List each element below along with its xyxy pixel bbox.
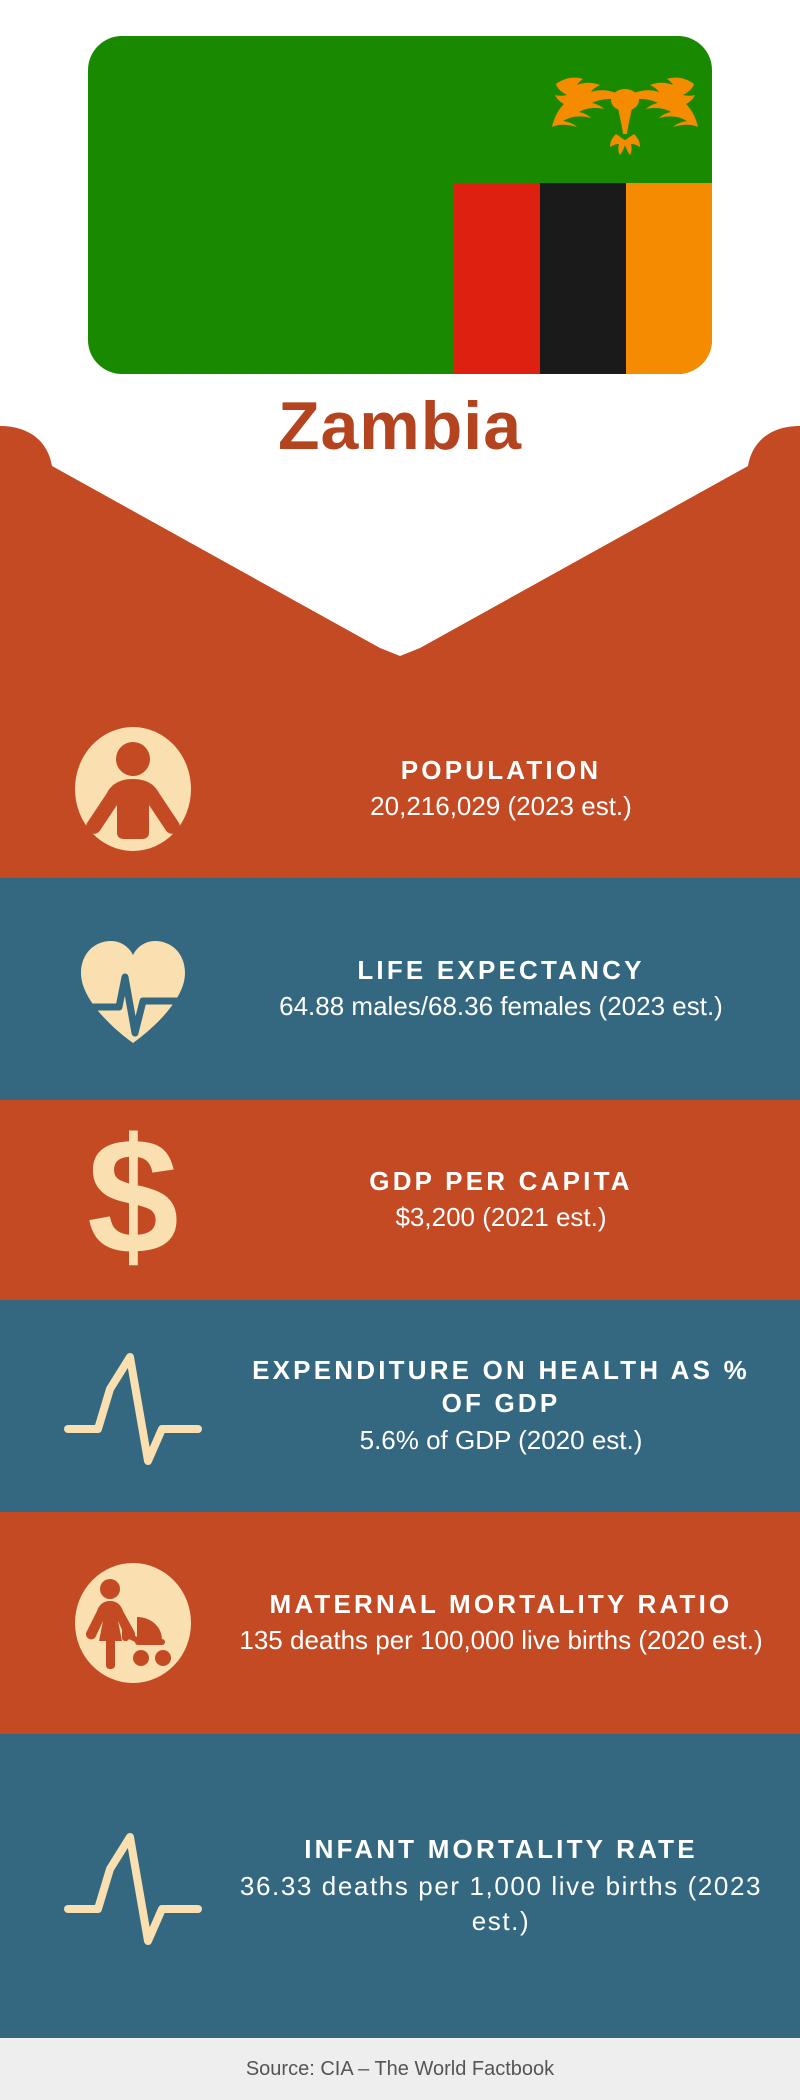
flag-black-stripe	[540, 183, 626, 374]
pulse-line-icon	[58, 1341, 208, 1471]
stat-value-health-expenditure: 5.6% of GDP (2020 est.)	[238, 1423, 764, 1458]
stat-icon-gdp-per-capita: $	[28, 1125, 238, 1275]
svg-text:$: $	[87, 1125, 179, 1275]
mother-stroller-icon	[65, 1555, 201, 1691]
stat-text-population: POPULATION 20,216,029 (2023 est.)	[238, 754, 778, 825]
header-section: Zambia	[0, 0, 800, 730]
person-icon	[65, 721, 201, 857]
country-flag	[88, 36, 712, 374]
flag-red-stripe	[454, 183, 540, 374]
stat-row-infant-mortality: INFANT MORTALITY RATE 36.33 deaths per 1…	[0, 1734, 800, 2038]
stat-icon-health-expenditure	[28, 1341, 238, 1471]
stat-row-life-expectancy: LIFE EXPECTANCY 64.88 males/68.36 female…	[0, 878, 800, 1100]
stat-text-health-expenditure: EXPENDITURE ON HEALTH AS % OF GDP 5.6% o…	[238, 1354, 778, 1459]
source-attribution: Source: CIA – The World Factbook	[246, 2058, 554, 2081]
pulse-line-icon	[58, 1821, 208, 1951]
page-title: Zambia	[0, 392, 800, 460]
stat-row-health-expenditure: EXPENDITURE ON HEALTH AS % OF GDP 5.6% o…	[0, 1300, 800, 1512]
stat-label-life-expectancy: LIFE EXPECTANCY	[238, 954, 764, 988]
stat-value-maternal-mortality: 135 deaths per 100,000 live births (2020…	[238, 1623, 764, 1658]
stat-label-health-expenditure: EXPENDITURE ON HEALTH AS % OF GDP	[238, 1354, 764, 1422]
stat-icon-maternal-mortality	[28, 1555, 238, 1691]
stat-value-infant-mortality: 36.33 deaths per 1,000 live births (2023…	[238, 1869, 764, 1939]
stat-text-life-expectancy: LIFE EXPECTANCY 64.88 males/68.36 female…	[238, 954, 778, 1025]
stat-row-gdp-per-capita: $ GDP PER CAPITA $3,200 (2021 est.)	[0, 1100, 800, 1300]
stat-icon-population	[28, 721, 238, 857]
infographic-root: Zambia POPULATION 20,216,029 (2023 est.)	[0, 0, 800, 2100]
stat-icon-life-expectancy	[28, 921, 238, 1057]
eagle-icon	[550, 62, 700, 162]
stat-row-population: POPULATION 20,216,029 (2023 est.)	[0, 700, 800, 878]
stat-label-maternal-mortality: MATERNAL MORTALITY RATIO	[238, 1588, 764, 1622]
stat-text-gdp-per-capita: GDP PER CAPITA $3,200 (2021 est.)	[238, 1165, 778, 1236]
flag-orange-stripe	[626, 183, 712, 374]
stat-value-gdp-per-capita: $3,200 (2021 est.)	[238, 1200, 764, 1235]
stat-label-gdp-per-capita: GDP PER CAPITA	[238, 1165, 764, 1199]
stat-label-population: POPULATION	[238, 754, 764, 788]
stat-value-life-expectancy: 64.88 males/68.36 females (2023 est.)	[238, 989, 764, 1024]
stat-icon-infant-mortality	[28, 1821, 238, 1951]
dollar-sign-icon: $	[68, 1125, 198, 1275]
footer-bar: Source: CIA – The World Factbook	[0, 2038, 800, 2100]
stat-value-population: 20,216,029 (2023 est.)	[238, 789, 764, 824]
stat-label-infant-mortality: INFANT MORTALITY RATE	[238, 1833, 764, 1867]
heart-pulse-icon	[65, 921, 201, 1057]
stat-text-infant-mortality: INFANT MORTALITY RATE 36.33 deaths per 1…	[238, 1833, 778, 1939]
stat-row-maternal-mortality: MATERNAL MORTALITY RATIO 135 deaths per …	[0, 1512, 800, 1734]
stat-text-maternal-mortality: MATERNAL MORTALITY RATIO 135 deaths per …	[238, 1588, 778, 1659]
